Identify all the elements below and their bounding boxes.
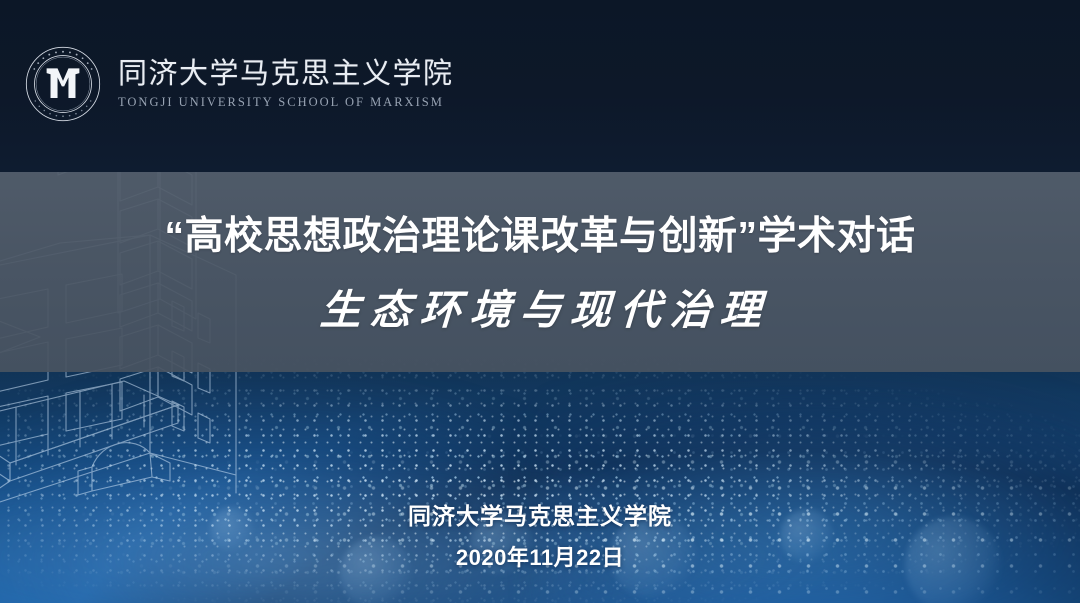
presentation-slide: 同济大学马克思主义学院 TONGJI UNIVERSITY SCHOOL OF … [0, 0, 1080, 603]
logo-text-group: 同济大学马克思主义学院 TONGJI UNIVERSITY SCHOOL OF … [118, 58, 454, 110]
event-date: 2020年11月22日 [0, 545, 1080, 571]
title-band: “高校思想政治理论课改革与创新”学术对话 生态环境与现代治理 [0, 172, 1080, 372]
org-name-cn: 同济大学马克思主义学院 [118, 58, 454, 91]
title-band-inner: “高校思想政治理论课改革与创新”学术对话 生态环境与现代治理 [0, 172, 1080, 372]
slide-footer: 同济大学马克思主义学院 2020年11月22日 [0, 503, 1080, 571]
slide-header: 同济大学马克思主义学院 TONGJI UNIVERSITY SCHOOL OF … [0, 0, 1080, 172]
organizer-name: 同济大学马克思主义学院 [0, 503, 1080, 531]
page-title: “高校思想政治理论课改革与创新”学术对话 [164, 217, 915, 256]
page-subtitle: 生态环境与现代治理 [309, 290, 770, 331]
tongji-university-seal-icon [24, 45, 102, 123]
org-name-en: TONGJI UNIVERSITY SCHOOL OF MARXISM [118, 95, 454, 110]
